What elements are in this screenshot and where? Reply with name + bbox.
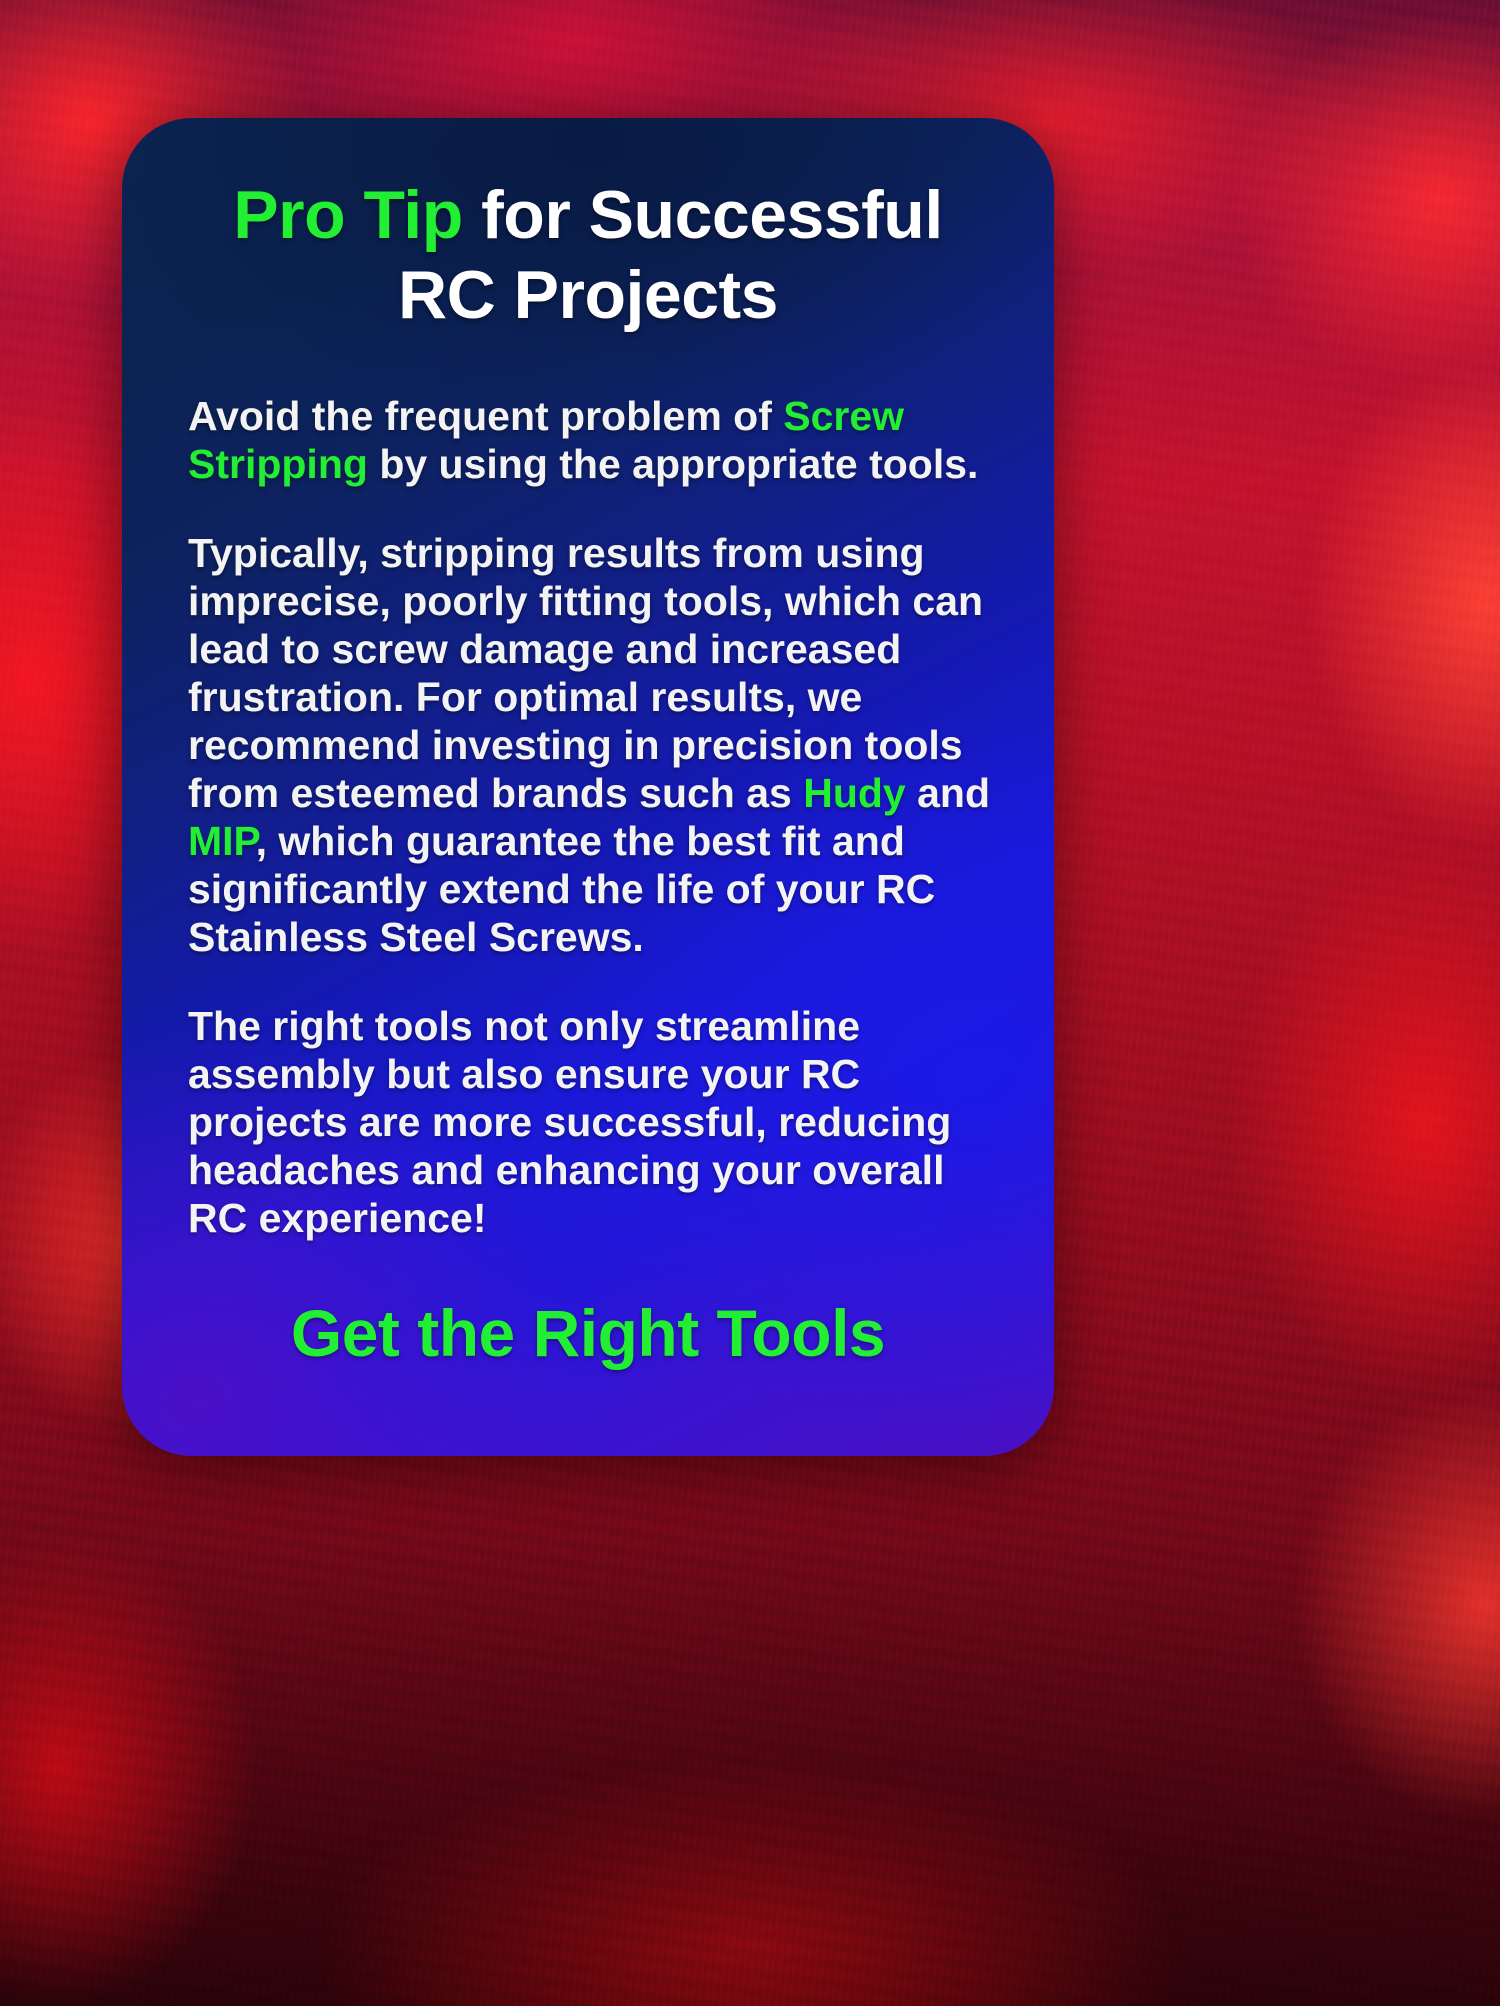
- paragraph-explanation: Typically, stripping results from using …: [188, 530, 992, 962]
- paragraph-text: and: [906, 770, 990, 816]
- highlight-term: Hudy: [803, 770, 906, 816]
- pro-tip-card: Pro Tip for Successful RC Projects Avoid…: [122, 118, 1054, 1456]
- paragraph-text: The right tools not only streamline asse…: [188, 1003, 951, 1241]
- highlight-term: MIP: [188, 818, 256, 864]
- paragraph-text: by using the appropriate tools.: [368, 441, 979, 487]
- cta-text: Get the Right Tools: [184, 1297, 992, 1370]
- body-copy: Avoid the frequent problem of Screw Stri…: [184, 393, 992, 1243]
- card-content: Pro Tip for Successful RC Projects Avoid…: [122, 118, 1054, 1456]
- page-title: Pro Tip for Successful RC Projects: [190, 176, 986, 335]
- paragraph-text: , which guarantee the best fit and signi…: [188, 818, 935, 960]
- headline-accent: Pro Tip: [233, 177, 463, 253]
- paragraph-text: Avoid the frequent problem of: [188, 393, 783, 439]
- paragraph-intro: Avoid the frequent problem of Screw Stri…: [188, 393, 992, 489]
- paragraph-benefit: The right tools not only streamline asse…: [188, 1003, 992, 1243]
- headline-rest: for Successful RC Projects: [398, 177, 943, 333]
